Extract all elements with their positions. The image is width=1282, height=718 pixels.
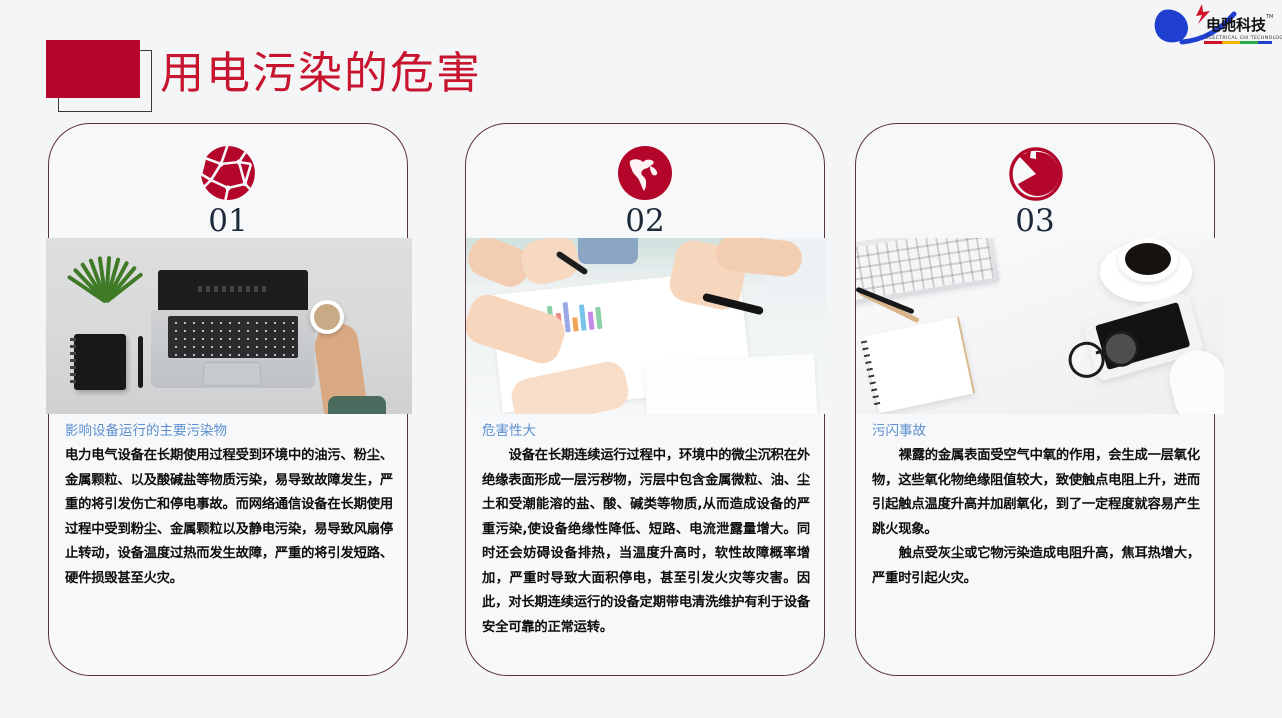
- cracked-sphere-icon: [199, 144, 257, 202]
- card-paragraph: 触点受灰尘或它物污染造成电阻升高，焦耳热增大，严重时引起火灾。: [872, 542, 1200, 591]
- pie-chart-exploded-icon: [1006, 144, 1064, 202]
- card-photo: [46, 238, 412, 414]
- card-container: 01 影响设备运行的主要污染物 电力: [0, 0, 1282, 718]
- card-body: 危害性大 设备在长期连续运行过程中，环境中的微尘沉积在外绝缘表面形成一层污秽物，…: [466, 420, 824, 640]
- info-card-01[interactable]: 01 影响设备运行的主要污染物 电力: [48, 123, 408, 676]
- card-header: 02: [466, 124, 824, 236]
- plant-graphic: [68, 246, 146, 306]
- card-body: 污闪事故 裸露的金属表面受空气中氧的作用，会生成一层氧化物，这些氧化物绝缘阻值较…: [856, 420, 1214, 591]
- card-body: 影响设备运行的主要污染物 电力电气设备在长期使用过程受到环境中的油污、粉尘、金属…: [49, 420, 407, 591]
- card-number: 01: [208, 204, 247, 238]
- card-subtitle: 影响设备运行的主要污染物: [65, 420, 393, 442]
- card-subtitle: 污闪事故: [872, 420, 1200, 442]
- card-number: 03: [1015, 204, 1054, 238]
- card-paragraph: 裸露的金属表面受空气中氧的作用，会生成一层氧化物，这些氧化物绝缘阻值较大，致使触…: [872, 444, 1200, 542]
- card-number: 02: [625, 204, 664, 238]
- card-header: 01: [49, 124, 407, 236]
- info-card-03[interactable]: 03 污闪事故 裸露的金属表面受空气中氧的作用，会生成一层氧化物，这些氧化物绝缘…: [855, 123, 1215, 676]
- card-paragraph: 设备在长期连续运行过程中，环境中的微尘沉积在外绝缘表面形成一层污秽物，污层中包含…: [482, 444, 810, 640]
- info-card-02[interactable]: 02 危害性大 设备在长期连续运行过: [465, 123, 825, 676]
- card-header: 03: [856, 124, 1214, 236]
- card-paragraph: 电力电气设备在长期使用过程受到环境中的油污、粉尘、金属颗粒、以及酸碱盐等物质污染…: [65, 444, 393, 591]
- card-photo: [466, 238, 826, 414]
- card-photo: [856, 238, 1224, 414]
- globe-americas-icon: [616, 144, 674, 202]
- card-subtitle: 危害性大: [482, 420, 810, 442]
